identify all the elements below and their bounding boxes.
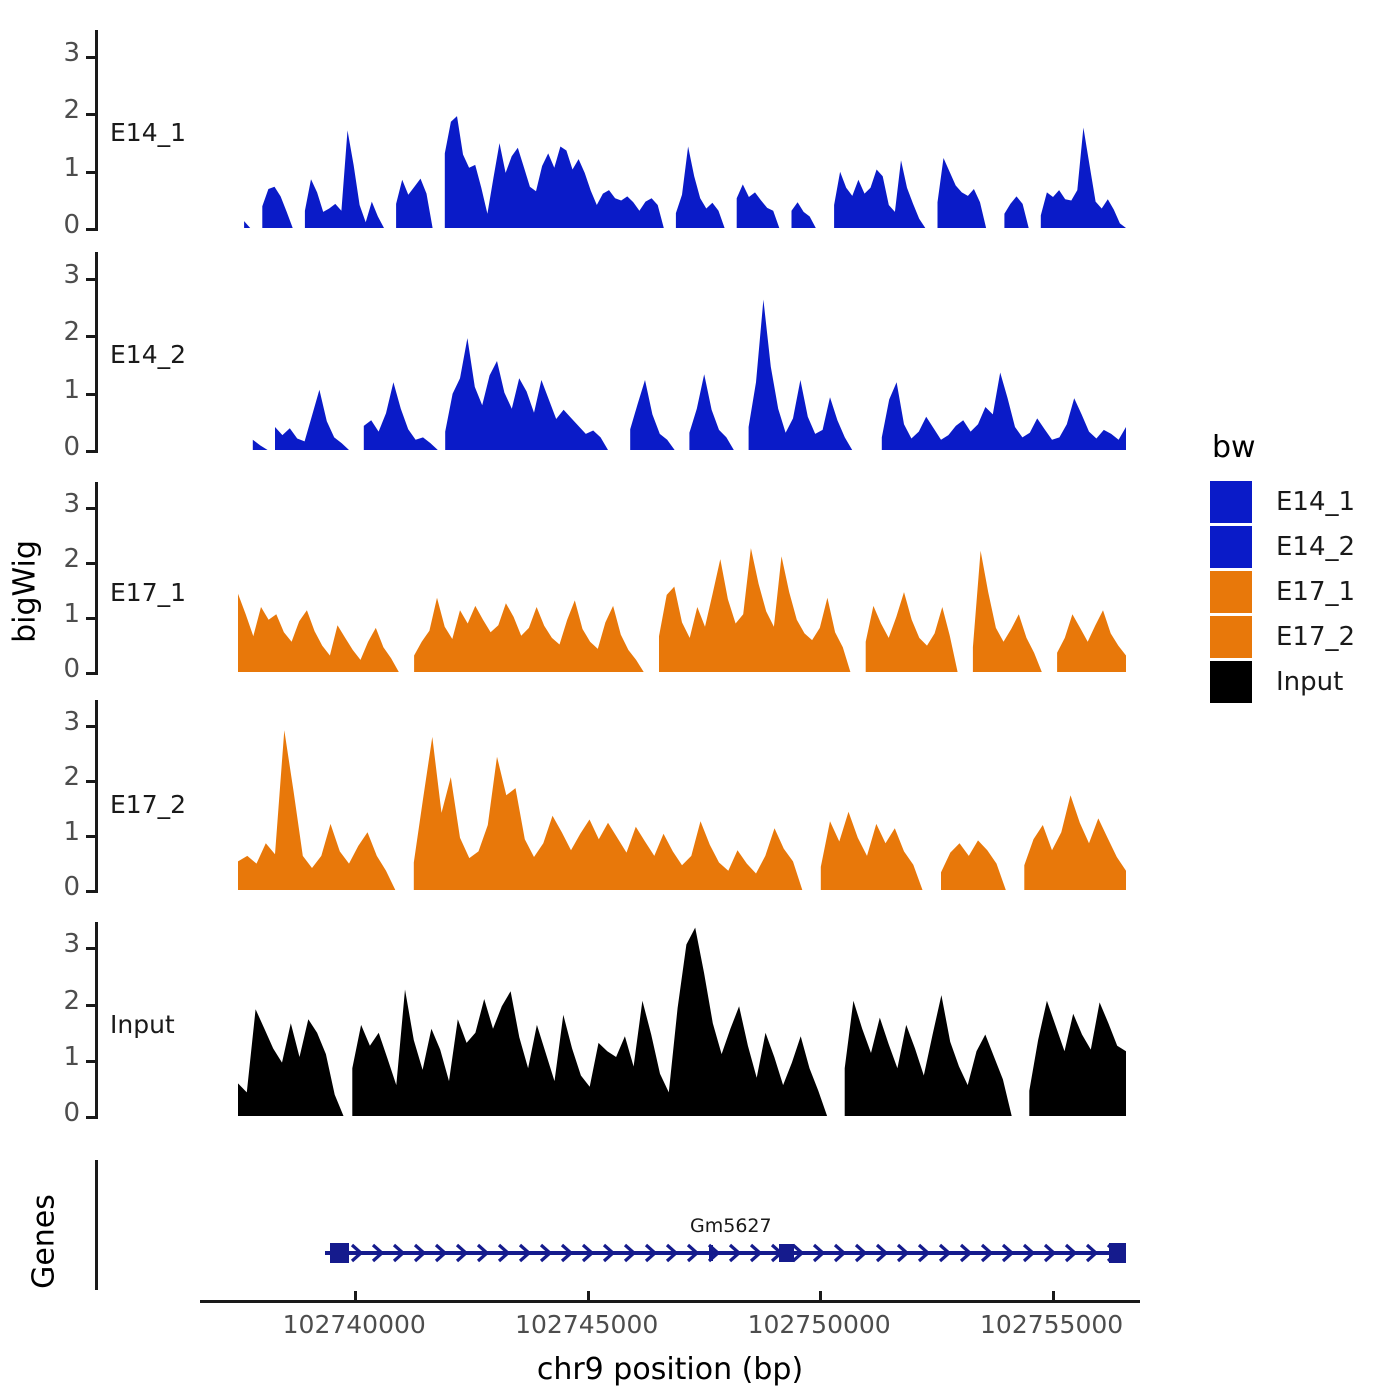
legend-swatch-e17_1	[1210, 571, 1252, 613]
y-axis-tick	[86, 562, 95, 565]
legend: bw E14_1E14_2E17_1E17_2Input	[1210, 430, 1400, 704]
gene-exon	[1109, 1243, 1126, 1263]
track-label-e14_1: E14_1	[110, 118, 186, 147]
y-axis-tick	[86, 1060, 95, 1063]
y-axis-tick	[86, 617, 95, 620]
legend-swatch-e14_1	[1210, 481, 1252, 523]
legend-swatch-e14_2	[1210, 526, 1252, 568]
y-axis-tick	[86, 56, 95, 59]
y-axis-tick	[86, 507, 95, 510]
y-axis-tick-label: 0	[40, 432, 80, 462]
y-axis-tick	[86, 171, 95, 174]
gene-exon	[779, 1244, 794, 1262]
y-axis-tick-label: 1	[40, 599, 80, 629]
x-axis-tick-label: 102740000	[244, 1310, 464, 1339]
track-label-e17_1: E17_1	[110, 578, 186, 607]
x-axis-tick-label: 102755000	[942, 1310, 1162, 1339]
x-axis: 102740000102745000102750000102755000 chr…	[0, 1300, 1400, 1400]
track-label-input: Input	[110, 1010, 175, 1039]
y-axis-line	[95, 922, 98, 1119]
y-axis-tick-label: 0	[40, 210, 80, 240]
y-axis-tick	[86, 450, 95, 453]
y-axis-tick-label: 1	[40, 1042, 80, 1072]
legend-item-e14_2[interactable]: E14_2	[1210, 524, 1400, 569]
y-axis-tick-label: 1	[40, 817, 80, 847]
y-axis-tick-label: 3	[40, 929, 80, 959]
legend-item-e17_1[interactable]: E17_1	[1210, 569, 1400, 614]
y-axis-tick	[86, 335, 95, 338]
y-axis-tick	[86, 725, 95, 728]
y-axis-tick-label: 2	[40, 986, 80, 1016]
bigwig-axis-title: bigWig	[8, 532, 43, 652]
y-axis-tick-label: 1	[40, 375, 80, 405]
legend-item-input[interactable]: Input	[1210, 659, 1400, 704]
y-axis-tick	[86, 780, 95, 783]
y-axis-tick	[86, 228, 95, 231]
y-axis-tick-label: 0	[40, 1098, 80, 1128]
track-label-e14_2: E14_2	[110, 340, 186, 369]
legend-label: E17_2	[1276, 622, 1355, 652]
x-axis-tick	[819, 1291, 822, 1300]
legend-title: bw	[1212, 430, 1400, 465]
legend-item-e17_2[interactable]: E17_2	[1210, 614, 1400, 659]
gene-exon	[330, 1243, 349, 1263]
y-axis-tick	[86, 835, 95, 838]
x-axis-tick	[1052, 1291, 1055, 1300]
legend-swatch-e17_2	[1210, 616, 1252, 658]
y-axis-line	[95, 30, 98, 231]
legend-items: E14_1E14_2E17_1E17_2Input	[1210, 479, 1400, 704]
legend-label: Input	[1276, 667, 1343, 697]
y-axis-tick-label: 3	[40, 38, 80, 68]
y-axis-tick	[86, 113, 95, 116]
legend-label: E17_1	[1276, 577, 1355, 607]
y-axis-tick-label: 3	[40, 260, 80, 290]
y-axis-tick-label: 1	[40, 153, 80, 183]
legend-label: E14_1	[1276, 487, 1355, 517]
y-axis-tick-label: 2	[40, 762, 80, 792]
x-axis-tick	[587, 1291, 590, 1300]
y-axis-line	[95, 252, 98, 453]
y-axis-tick	[86, 393, 95, 396]
y-axis-tick-label: 2	[40, 544, 80, 574]
legend-item-e14_1[interactable]: E14_1	[1210, 479, 1400, 524]
legend-label: E14_2	[1276, 532, 1355, 562]
gene-exon	[709, 1245, 713, 1261]
y-axis-tick-label: 3	[40, 489, 80, 519]
genes-panel: Gm5627	[0, 1155, 1400, 1315]
x-axis-line	[200, 1300, 1140, 1303]
y-axis-tick-label: 0	[40, 654, 80, 684]
y-axis-tick	[86, 890, 95, 893]
y-axis-tick	[86, 947, 95, 950]
y-axis-tick	[86, 1004, 95, 1007]
y-axis-tick	[86, 278, 95, 281]
y-axis-tick	[86, 1116, 95, 1119]
x-axis-tick-label: 102750000	[709, 1310, 929, 1339]
gene-model[interactable]	[0, 1155, 1400, 1315]
x-axis-tick-label: 102745000	[477, 1310, 697, 1339]
y-axis-tick-label: 0	[40, 872, 80, 902]
x-axis-title: chr9 position (bp)	[200, 1352, 1140, 1387]
y-axis-line	[95, 700, 98, 893]
legend-swatch-input	[1210, 661, 1252, 703]
y-axis-tick-label: 3	[40, 707, 80, 737]
y-axis-tick	[86, 672, 95, 675]
y-axis-tick-label: 2	[40, 317, 80, 347]
x-axis-tick	[354, 1291, 357, 1300]
y-axis-line	[95, 482, 98, 675]
y-axis-tick-label: 2	[40, 95, 80, 125]
track-label-e17_2: E17_2	[110, 790, 186, 819]
